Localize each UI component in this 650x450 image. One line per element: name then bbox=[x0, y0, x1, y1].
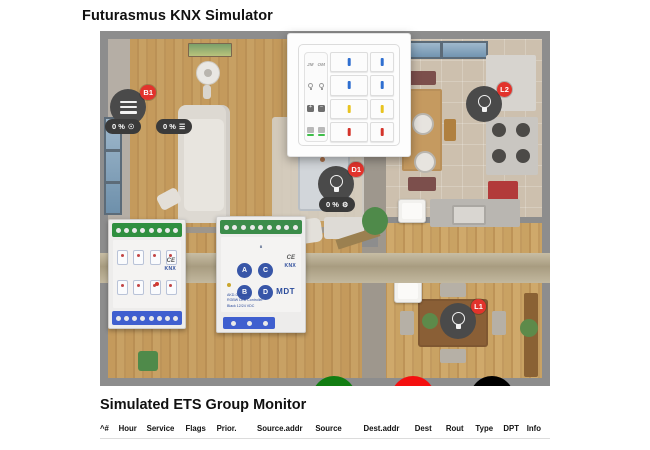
column-header-prior[interactable]: Prior. bbox=[217, 424, 257, 433]
plate bbox=[414, 151, 436, 173]
led-indicator bbox=[381, 128, 384, 136]
monitor-title: Simulated ETS Group Monitor bbox=[100, 397, 306, 413]
led-indicator bbox=[348, 105, 351, 113]
panel-center-row-4 bbox=[305, 127, 327, 133]
panel-label-om: OM bbox=[318, 62, 325, 67]
column-header-dpt[interactable]: DPT bbox=[503, 424, 526, 433]
panel-button-grid: JM OM + − bbox=[304, 52, 394, 142]
module-button[interactable] bbox=[166, 280, 177, 295]
panel-button-right-1[interactable] bbox=[370, 52, 394, 72]
panel-center-row-3: + − bbox=[305, 105, 327, 112]
mdt-brand-logo: MDT bbox=[276, 287, 295, 296]
panel-button-right-4[interactable] bbox=[370, 122, 394, 142]
stop-icon bbox=[318, 127, 325, 133]
chair bbox=[492, 311, 506, 335]
bulb-icon bbox=[477, 95, 492, 114]
column-header-info[interactable]: Info bbox=[527, 424, 550, 433]
knx-logo: KNX bbox=[165, 266, 176, 272]
plant bbox=[138, 351, 158, 371]
device-marker-light-l2[interactable]: L2 bbox=[466, 86, 502, 122]
panel-button-right-2[interactable] bbox=[370, 75, 394, 95]
dimmer-level-value[interactable]: 0 % ⚙ bbox=[319, 197, 355, 212]
module-mdt-rgbw-controller[interactable]: A B C D A C B D CE KNX MDT AKD-0424V.02 … bbox=[216, 216, 306, 333]
module-led bbox=[155, 282, 159, 286]
stop-icon bbox=[307, 127, 314, 133]
module-button[interactable] bbox=[133, 250, 144, 265]
panel-center-display: JM OM + − bbox=[304, 52, 328, 142]
blinds-icon bbox=[120, 101, 137, 114]
led-indicator bbox=[348, 128, 351, 136]
panel-button-left-1[interactable] bbox=[330, 52, 368, 72]
led-indicator bbox=[381, 81, 384, 89]
blind-position-value[interactable]: 0 % ☉ bbox=[105, 119, 141, 134]
panel-button-left-2[interactable] bbox=[330, 75, 368, 95]
plate bbox=[412, 113, 434, 135]
column-header-dest-addr[interactable]: Dest.addr bbox=[364, 424, 415, 433]
terminal-block-blue bbox=[112, 311, 182, 325]
device-badge-d1: D1 bbox=[348, 162, 364, 177]
chair bbox=[400, 311, 414, 335]
device-badge-l1: L1 bbox=[471, 299, 486, 314]
plus-icon: + bbox=[307, 105, 314, 112]
device-marker-light-l1[interactable]: L1 bbox=[440, 303, 476, 339]
module-channel-label: D bbox=[260, 245, 262, 249]
burner bbox=[516, 123, 530, 137]
bulb-icon bbox=[451, 312, 466, 331]
chair bbox=[408, 71, 436, 85]
panel-label-jm: JM bbox=[307, 62, 313, 67]
group-monitor-table: ^# Hour Service Flags Prior. Source.addr… bbox=[100, 424, 550, 439]
module-faceplate: CE KNX bbox=[113, 240, 181, 308]
chair bbox=[440, 283, 466, 297]
minus-icon: − bbox=[318, 105, 325, 112]
panel-button-right-3[interactable] bbox=[370, 99, 394, 119]
plant bbox=[422, 313, 438, 329]
chair bbox=[440, 349, 466, 363]
panel-center-row-1: JM OM bbox=[305, 62, 327, 67]
module-button-c[interactable]: C bbox=[258, 263, 273, 278]
module-button-a[interactable]: A bbox=[237, 263, 252, 278]
burner bbox=[492, 149, 506, 163]
knx-wall-switch-panel[interactable]: JM OM + − bbox=[287, 33, 411, 157]
panel-button-left-4[interactable] bbox=[330, 122, 368, 142]
column-header-source-addr[interactable]: Source.addr bbox=[257, 424, 315, 433]
device-badge-l2: L2 bbox=[497, 82, 512, 97]
simulation-controls: START STOP CLEAR bbox=[312, 376, 514, 386]
stop-button[interactable]: STOP bbox=[391, 376, 435, 386]
led-indicator bbox=[381, 58, 384, 66]
sink bbox=[452, 205, 486, 225]
page-title: Futurasmus KNX Simulator bbox=[82, 8, 273, 24]
column-header-type[interactable]: Type bbox=[475, 424, 503, 433]
picture-frame bbox=[188, 43, 232, 57]
bulb-icon bbox=[319, 83, 324, 90]
column-header-dest[interactable]: Dest bbox=[415, 424, 446, 433]
ce-mark: CE bbox=[167, 258, 175, 264]
column-header-service[interactable]: Service bbox=[147, 424, 186, 433]
plant bbox=[520, 319, 538, 337]
bulb-icon bbox=[308, 83, 313, 90]
module-button[interactable] bbox=[117, 280, 128, 295]
panel-center-row-2 bbox=[305, 83, 327, 90]
led-indicator bbox=[348, 58, 351, 66]
terminal-block-blue bbox=[223, 317, 275, 329]
module-faceplate: A B C D A C B D CE KNX MDT AKD-0424V.02 … bbox=[221, 237, 301, 312]
blind-slat-value[interactable]: 0 % ☰ bbox=[156, 119, 192, 134]
knx-logo: KNX bbox=[285, 263, 296, 269]
panel-button-left-3[interactable] bbox=[330, 99, 368, 119]
wall-switch-kitchen[interactable] bbox=[398, 199, 426, 223]
chair bbox=[408, 177, 436, 191]
terminal-block-green bbox=[220, 220, 302, 234]
module-knx-switch-actuator[interactable]: CE KNX bbox=[108, 219, 186, 329]
ce-mark: CE bbox=[287, 255, 295, 261]
start-button[interactable]: START bbox=[312, 376, 356, 386]
column-header-index[interactable]: ^# bbox=[100, 424, 119, 433]
column-header-flags[interactable]: Flags bbox=[186, 424, 217, 433]
app-root: Futurasmus KNX Simulator bbox=[0, 0, 650, 450]
table-header-row: ^# Hour Service Flags Prior. Source.addr… bbox=[100, 424, 550, 439]
led-indicator bbox=[348, 81, 351, 89]
module-led bbox=[227, 283, 231, 287]
lamp-stem bbox=[203, 85, 211, 99]
chair bbox=[444, 119, 456, 141]
burner bbox=[516, 149, 530, 163]
led-indicator bbox=[381, 105, 384, 113]
blinds-icon: ☰ bbox=[179, 123, 185, 131]
burner bbox=[492, 123, 506, 137]
module-button[interactable] bbox=[133, 280, 144, 295]
column-header-rout[interactable]: Rout bbox=[446, 424, 476, 433]
column-header-source[interactable]: Source bbox=[315, 424, 363, 433]
bulb-icon bbox=[329, 175, 344, 194]
module-button[interactable] bbox=[150, 250, 161, 265]
floor-lamp bbox=[196, 61, 220, 85]
clear-button[interactable]: CLEAR bbox=[470, 376, 514, 386]
module-button[interactable] bbox=[117, 250, 128, 265]
rotate-icon: ☉ bbox=[128, 123, 134, 131]
gear-icon: ⚙ bbox=[342, 201, 348, 209]
column-header-hour[interactable]: Hour bbox=[119, 424, 147, 433]
cactus-plant bbox=[362, 207, 388, 235]
terminal-block-green bbox=[112, 223, 182, 237]
device-badge-b1: B1 bbox=[140, 85, 156, 100]
module-description: AKD-0424V.02 RGBW LED Controller Black 1… bbox=[227, 293, 263, 309]
